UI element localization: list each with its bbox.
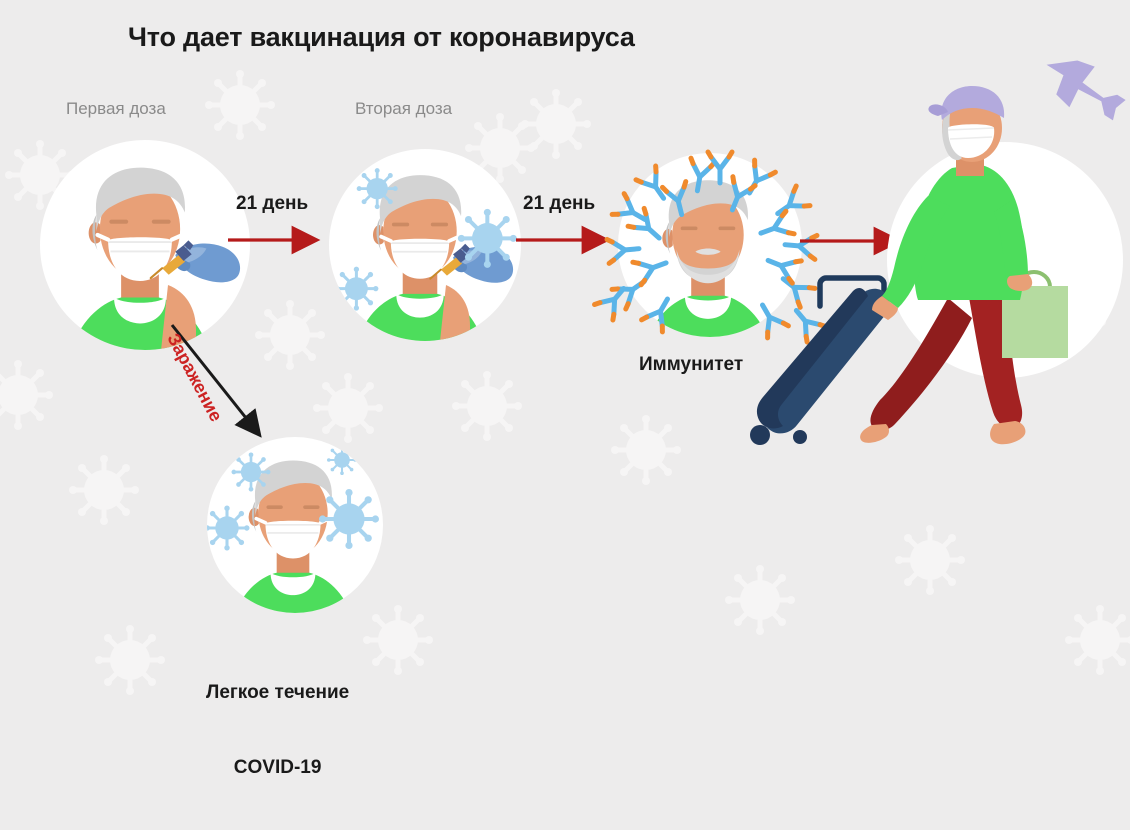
stage-mild-covid	[205, 437, 384, 646]
label-mild-covid-line2: COVID-19	[206, 755, 349, 780]
page-title: Что дает вакцинация от коронавируса	[128, 22, 635, 53]
traveler-scene	[750, 44, 1130, 445]
label-interval-two: 21 день	[523, 193, 595, 215]
traveler-front-foot	[990, 421, 1025, 444]
label-immunity: Иммунитет	[639, 354, 743, 376]
stage-immunity	[595, 152, 826, 371]
suitcase-wheel-1	[750, 425, 770, 445]
infographic-canvas: Что дает вакцинация от коронавируса Перв…	[0, 0, 1130, 698]
stage-second-dose	[329, 149, 521, 372]
stage-first-dose	[40, 140, 250, 382]
traveler-front-hand	[1007, 274, 1032, 291]
airplane-icon	[1034, 44, 1130, 130]
label-mild-covid-line1: Легкое течение	[206, 680, 349, 705]
traveler-back-foot	[860, 424, 889, 443]
label-second-dose: Вторая доза	[355, 99, 452, 119]
suitcase-wheel-2	[793, 430, 807, 444]
label-first-dose: Первая доза	[66, 99, 166, 119]
suitcase-body	[763, 289, 889, 434]
label-interval-one: 21 день	[236, 193, 308, 215]
label-mild-covid: Легкое течение COVID-19	[206, 630, 349, 830]
